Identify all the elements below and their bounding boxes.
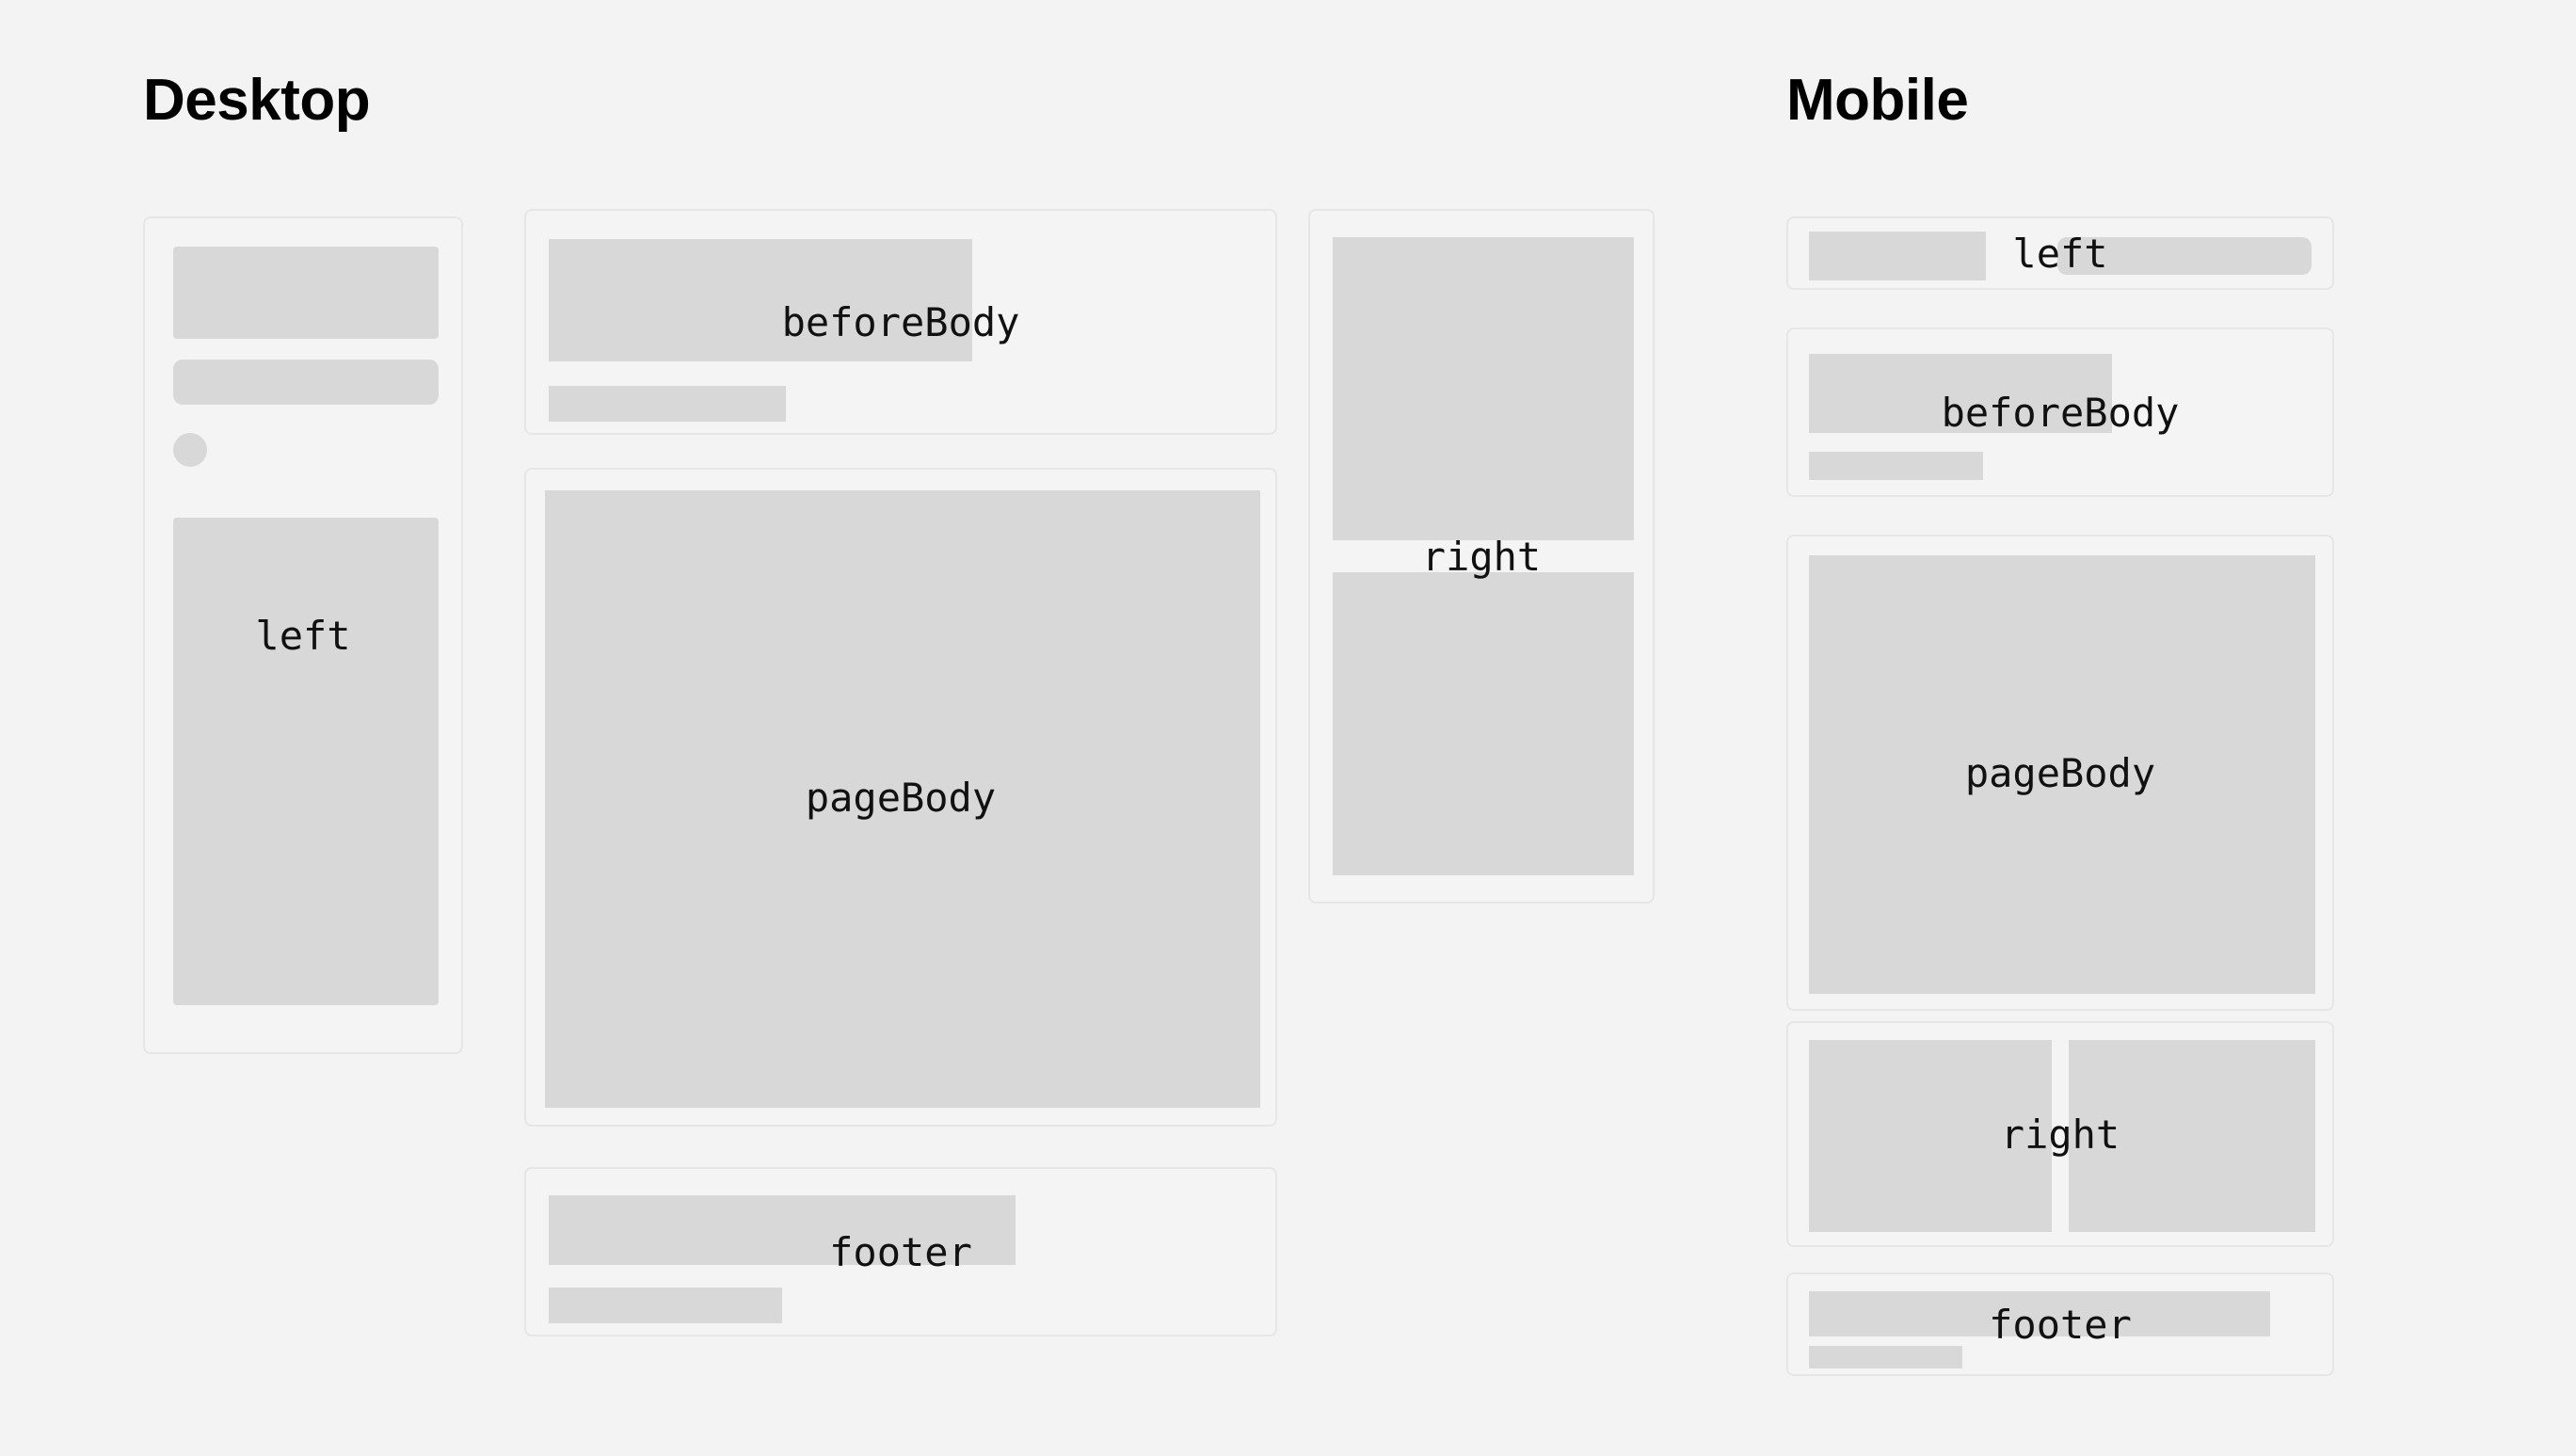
mobile-before-body-block-short: [1809, 452, 1983, 480]
desktop-right-block-bottom: [1333, 572, 1634, 875]
desktop-footer-panel[interactable]: [524, 1167, 1277, 1336]
desktop-footer-block-wide: [549, 1195, 1016, 1265]
mobile-right-block-col-2: [2069, 1040, 2315, 1232]
desktop-left-block-tall: [173, 518, 439, 1005]
desktop-left-avatar-dot: [173, 433, 207, 467]
desktop-section-title: Desktop: [143, 72, 370, 130]
desktop-left-panel[interactable]: [143, 216, 463, 1054]
mobile-footer-block-wide: [1809, 1291, 2270, 1336]
desktop-footer-block-short: [549, 1288, 782, 1323]
mobile-before-body-block-wide: [1809, 354, 2112, 433]
desktop-page-body-block-fill: [545, 490, 1260, 1108]
mobile-section-title: Mobile: [1786, 72, 1968, 130]
mobile-right-block-col-1: [1809, 1040, 2052, 1232]
mobile-left-block-left: [1809, 232, 1986, 280]
mobile-right-panel[interactable]: [1786, 1021, 2334, 1247]
desktop-left-block-large: [173, 247, 439, 339]
mobile-before-body-panel[interactable]: [1786, 328, 2334, 497]
mobile-page-body-block-fill: [1809, 555, 2315, 994]
mobile-footer-panel[interactable]: [1786, 1272, 2334, 1376]
desktop-left-block-bar: [173, 360, 439, 405]
mobile-page-body-panel[interactable]: [1786, 535, 2334, 1011]
mobile-footer-block-short: [1809, 1346, 1962, 1368]
desktop-before-body-block-short: [549, 386, 786, 422]
desktop-before-body-block-wide: [549, 239, 972, 361]
desktop-right-panel[interactable]: [1308, 209, 1655, 904]
desktop-before-body-panel[interactable]: [524, 209, 1277, 435]
mobile-left-panel[interactable]: [1786, 216, 2334, 290]
mobile-left-avatar-dot: [2264, 245, 2289, 269]
desktop-page-body-panel[interactable]: [524, 468, 1277, 1127]
desktop-right-block-top: [1333, 237, 1634, 540]
